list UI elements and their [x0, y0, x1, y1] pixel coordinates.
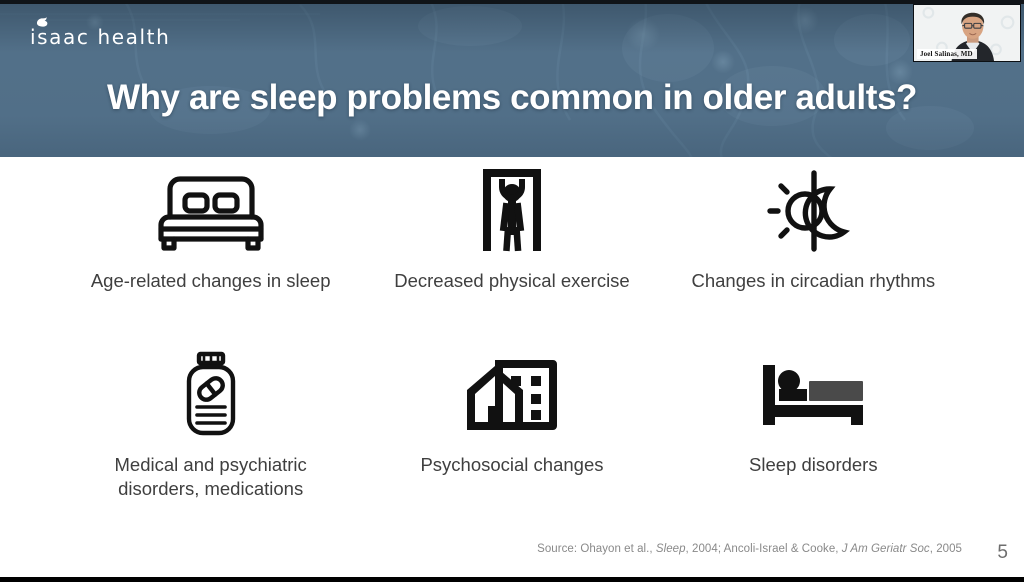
content-cell-sleep-disorders: Sleep disorders: [663, 341, 964, 525]
bed-double-icon: [152, 167, 270, 255]
content-cell-psychosocial-changes: Psychosocial changes: [361, 341, 662, 525]
icon-container: [152, 157, 270, 265]
cell-label: Age-related changes in sleep: [91, 269, 331, 293]
slide-title: Why are sleep problems common in older a…: [0, 78, 1024, 118]
cell-label: Medical and psychiatric disorders, medic…: [86, 453, 336, 502]
content-cell-age-related-changes: Age-related changes in sleep: [60, 157, 361, 341]
source-citation: Source: Ohayon et al., Sleep, 2004; Anco…: [537, 543, 962, 555]
pull-up-bar-exercise-icon: [469, 165, 555, 257]
presentation-slide: isaac health Why are sleep problems comm…: [0, 0, 1024, 582]
cell-label: Sleep disorders: [749, 453, 878, 477]
cell-label: Changes in circadian rhythms: [691, 269, 935, 293]
icon-container: [469, 157, 555, 265]
icon-container: [465, 341, 559, 449]
content-row-2: Medical and psychiatric disorders, medic…: [60, 341, 964, 525]
source-journal-2: J Am Geriatr Soc: [842, 543, 930, 555]
page-number: 5: [997, 542, 1008, 564]
brand-logo: isaac health: [30, 25, 170, 49]
cell-label: Decreased physical exercise: [394, 269, 629, 293]
slide-header: isaac health Why are sleep problems comm…: [0, 0, 1024, 157]
cell-label: Psychosocial changes: [420, 453, 603, 477]
sun-moon-circadian-icon: [767, 167, 859, 255]
person-sleeping-in-bed-icon: [761, 359, 865, 431]
content-row-1: Age-related changes in sleep: [60, 157, 964, 341]
source-suffix: , 2005: [930, 543, 962, 555]
content-cell-decreased-exercise: Decreased physical exercise: [361, 157, 662, 341]
icon-container: [175, 341, 247, 449]
source-middle: , 2004; Ancoli-Israel & Cooke,: [686, 543, 839, 555]
presenter-webcam-panel[interactable]: isaac health The future you for better b…: [913, 4, 1021, 62]
presenter-nameplate: Joel Salinas, MD: [917, 49, 977, 59]
house-building-icon: [465, 354, 559, 436]
pill-bottle-icon: [175, 349, 247, 441]
icon-container: [767, 157, 859, 265]
source-journal-1: Sleep: [656, 543, 686, 555]
source-prefix: Source: Ohayon et al.,: [537, 543, 653, 555]
letterbox-bar-top: [0, 0, 1024, 4]
brand-wordmark: isaac health: [30, 25, 170, 49]
slide-body: Age-related changes in sleep: [0, 157, 1024, 525]
bird-icon: [35, 16, 51, 29]
letterbox-bar-bottom: [0, 577, 1024, 582]
content-cell-medical-psychiatric: Medical and psychiatric disorders, medic…: [60, 341, 361, 525]
icon-container: [761, 341, 865, 449]
content-cell-circadian-rhythms: Changes in circadian rhythms: [663, 157, 964, 341]
